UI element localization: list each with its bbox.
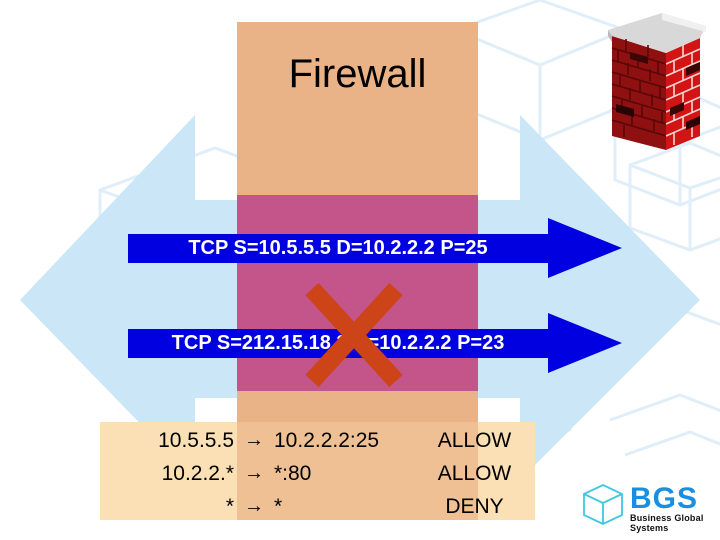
- rule-source: 10.5.5.5: [100, 426, 234, 455]
- brick-wall-firewall-icon: [600, 8, 712, 158]
- rule-destination: *:80: [274, 459, 414, 488]
- rule-destination: 10.2.2.2:25: [274, 426, 414, 455]
- rule-arrow-icon: →: [234, 492, 274, 521]
- rule-source: *: [100, 492, 234, 521]
- rule-action: ALLOW: [414, 426, 535, 455]
- firewall-column-top-band: [237, 22, 478, 195]
- rule-source: 10.2.2.*: [100, 459, 234, 488]
- rule-row: * → * DENY: [100, 492, 535, 521]
- packet-label-allowed: TCP S=10.5.5.5 D=10.2.2.2 P=25: [128, 234, 548, 263]
- firewall-rules-list: 10.5.5.5 → 10.2.2.2:25 ALLOW 10.2.2.* → …: [100, 422, 535, 520]
- firewall-title: Firewall: [237, 52, 478, 97]
- rule-arrow-icon: →: [234, 426, 274, 455]
- packet-arrowhead-blocked: [548, 313, 622, 373]
- rule-action: DENY: [414, 492, 535, 521]
- bgs-logo-tagline: Business Global Systems: [630, 513, 720, 533]
- rule-row: 10.5.5.5 → 10.2.2.2:25 ALLOW: [100, 426, 535, 455]
- rule-action: ALLOW: [414, 459, 535, 488]
- bgs-logo-text: BGS: [630, 482, 698, 516]
- rule-row: 10.2.2.* → *:80 ALLOW: [100, 459, 535, 488]
- packet-arrowhead-allowed: [548, 218, 622, 278]
- red-x-blocked-icon: [302, 281, 406, 389]
- rule-arrow-icon: →: [234, 459, 274, 488]
- rule-destination: *: [274, 492, 414, 521]
- slide-canvas: Firewall TCP S=10.5.5.5 D=10.2.2.2 P=25 …: [0, 0, 720, 540]
